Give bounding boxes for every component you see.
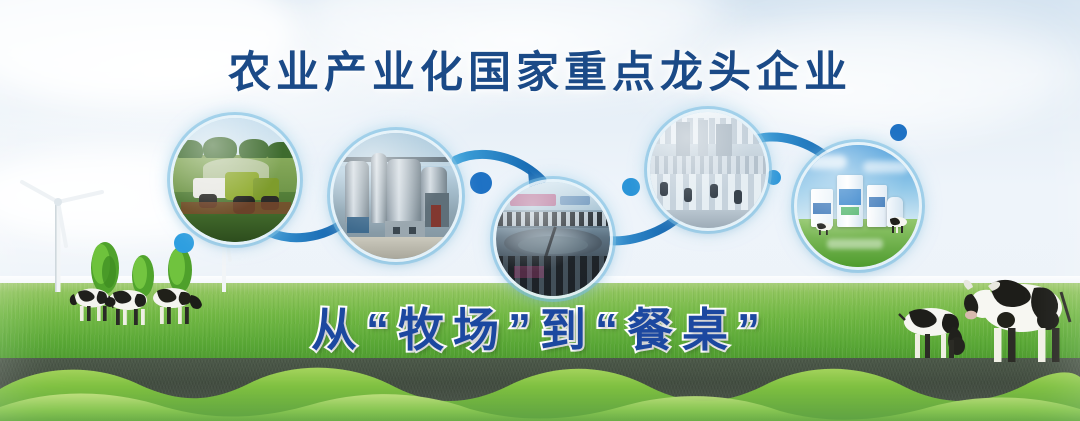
process-node-dairy-processing-plant[interactable] xyxy=(650,112,766,228)
page-title: 农业产业化国家重点龙头企业 xyxy=(0,38,1080,100)
process-node-feed-storage-silos[interactable] xyxy=(333,133,459,259)
process-node-milk-products[interactable] xyxy=(797,145,919,267)
decor-dot-3 xyxy=(470,172,492,194)
dairy-industry-banner: 农业产业化国家重点龙头企业 从“牧场”到“餐桌” xyxy=(0,0,1080,421)
process-node-field-harvesting[interactable] xyxy=(173,118,297,242)
rolling-hills xyxy=(0,359,1080,421)
process-node-rotary-milking-parlor[interactable] xyxy=(496,182,610,296)
decor-dot-6 xyxy=(766,170,781,185)
decor-dot-4 xyxy=(622,178,640,196)
page-subtitle: 从“牧场”到“餐桌” xyxy=(0,294,1080,360)
decor-dot-7 xyxy=(890,124,907,141)
